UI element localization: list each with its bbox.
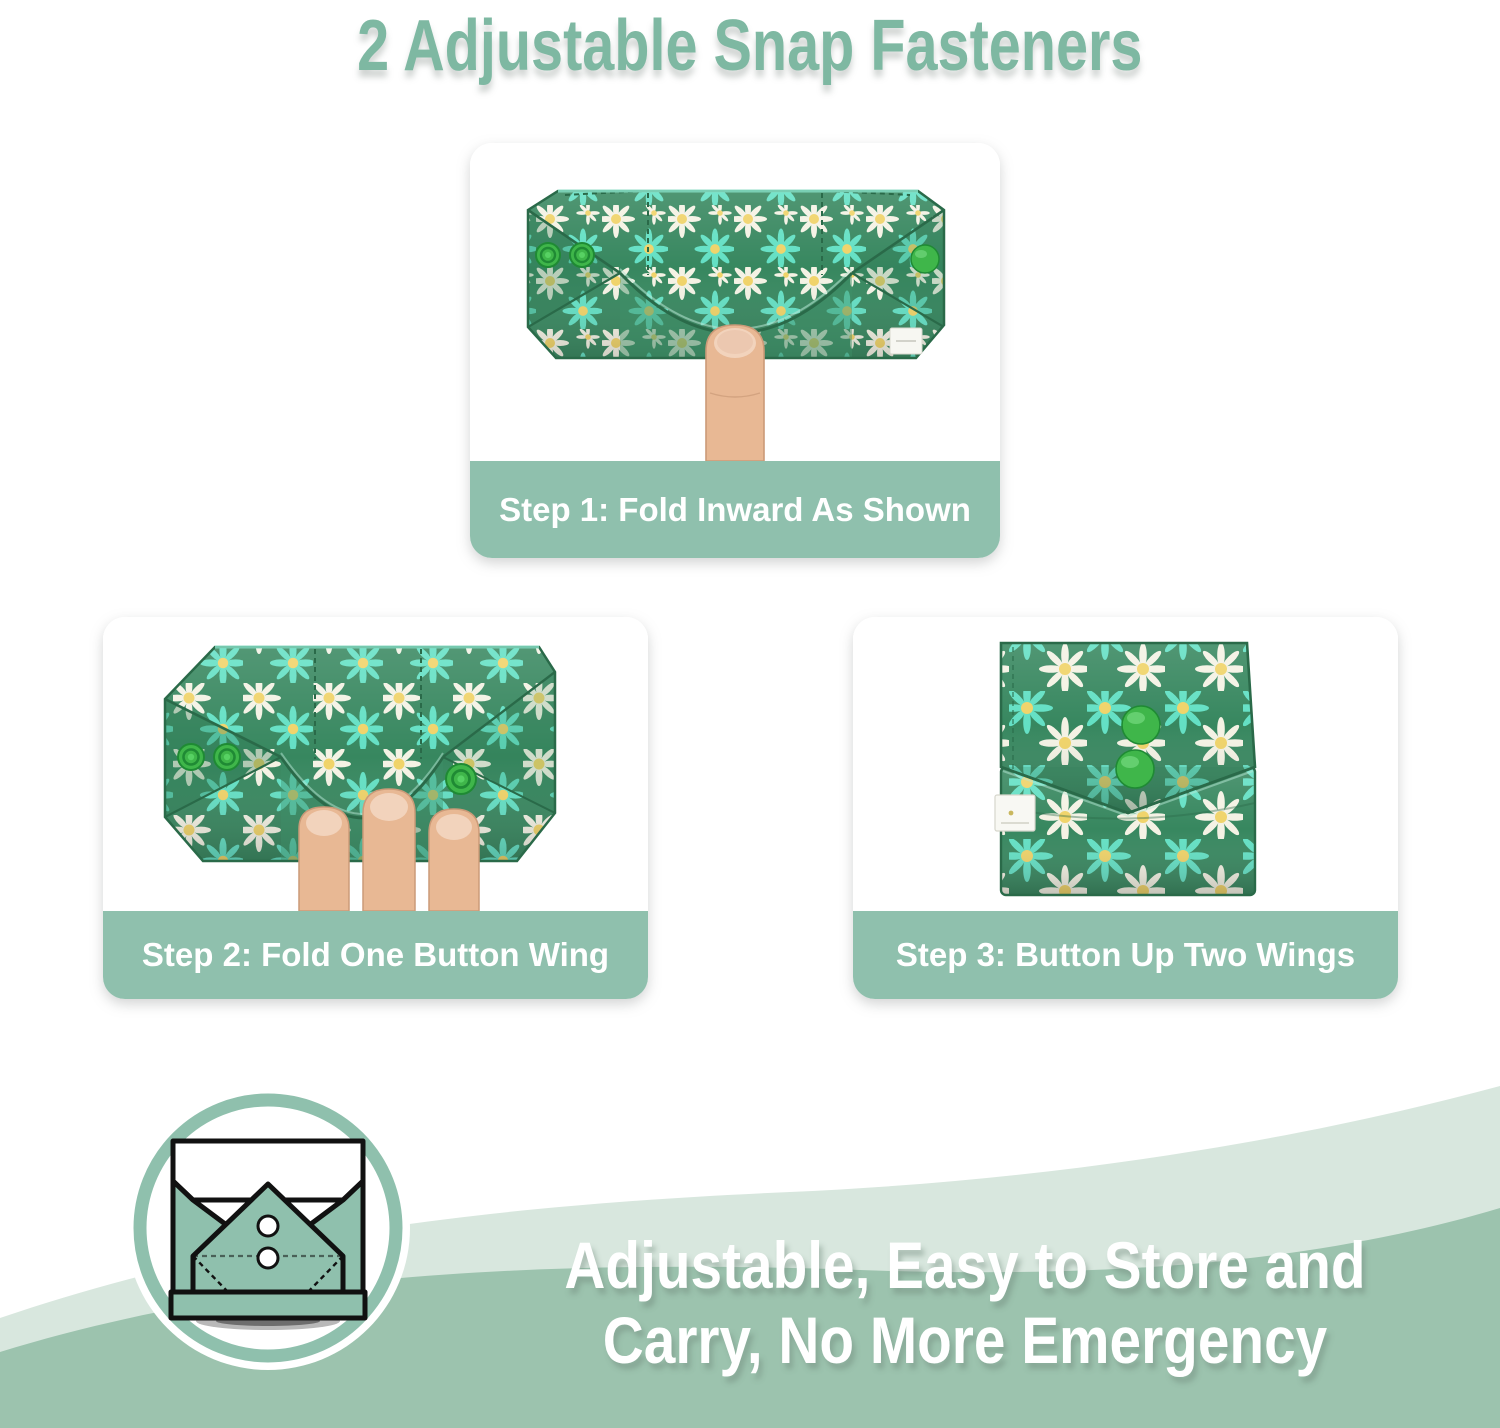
- step-3-caption: Step 3: Button Up Two Wings: [853, 911, 1398, 999]
- pad-folded-one-wing-illustration: [103, 617, 648, 911]
- snap-right: [911, 245, 939, 273]
- headline-line-1: Adjustable, Easy to Store and: [531, 1228, 1400, 1303]
- care-tag: [890, 328, 922, 354]
- step-card-2: Step 2: Fold One Button Wing: [103, 617, 648, 999]
- finger: [706, 325, 764, 461]
- page-title: 2 Adjustable Snap Fasteners: [357, 10, 1142, 82]
- footer-headline: Adjustable, Easy to Store and Carry, No …: [531, 1228, 1400, 1378]
- step-1-photo: [470, 143, 1000, 461]
- step-card-3: Step 3: Button Up Two Wings: [853, 617, 1398, 999]
- step-2-photo: [103, 617, 648, 911]
- title-banner: 2 Adjustable Snap Fasteners: [0, 0, 1500, 92]
- step-2-caption: Step 2: Fold One Button Wing: [103, 911, 648, 999]
- care-tag: [995, 795, 1035, 831]
- pad-unfolded-illustration: [470, 143, 1000, 461]
- footer-badge: [118, 1078, 418, 1378]
- folded-pad-envelope-icon: [118, 1078, 418, 1378]
- snap-right: [446, 764, 476, 794]
- step-1-caption: Step 1: Fold Inward As Shown: [470, 461, 1000, 558]
- step-3-photo: [853, 617, 1398, 911]
- headline-line-2: Carry, No More Emergency: [531, 1303, 1400, 1378]
- pouch-closed-illustration: [853, 617, 1398, 911]
- step-card-1: Step 1: Fold Inward As Shown: [470, 143, 1000, 558]
